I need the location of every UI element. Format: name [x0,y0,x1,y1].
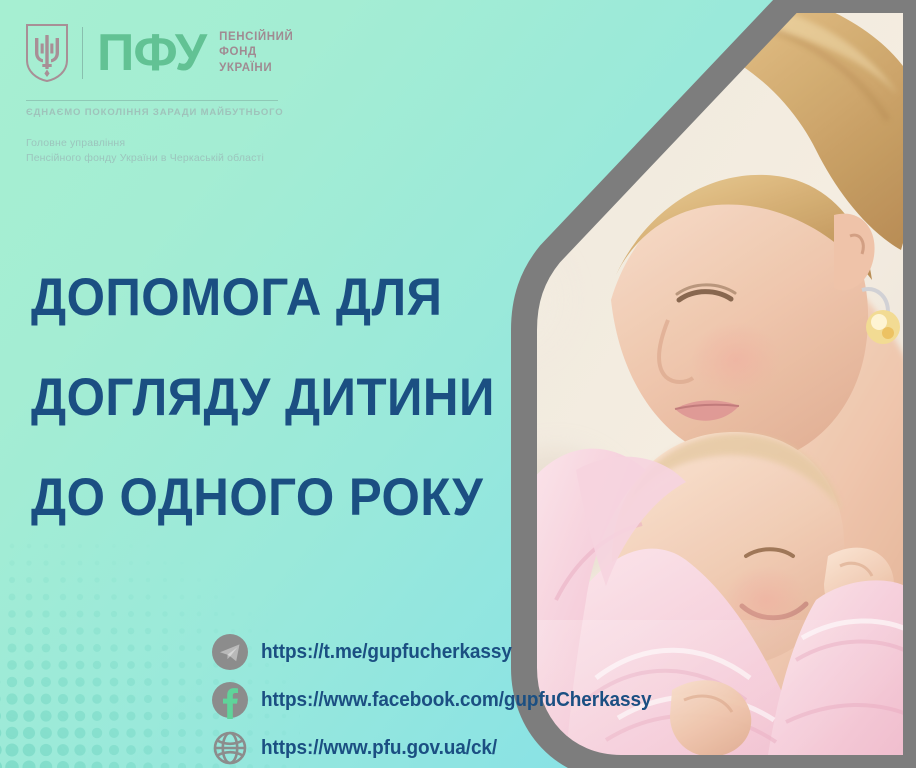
link-row-facebook[interactable]: https://www.facebook.com/gupfuCherkassy [211,676,672,724]
pfu-full-name-line-3: УКРАЇНИ [219,61,293,77]
link-row-website[interactable]: https://www.pfu.gov.ua/ck/ [211,724,672,768]
headline-line-2: ДОГЛЯДУ ДИТИНИ [31,348,468,448]
pfu-full-name-line-1: ПЕНСІЙНИЙ [219,30,293,46]
facebook-url[interactable]: https://www.facebook.com/gupfuCherkassy [261,689,651,712]
brand-tagline: ЄДНАЄМО ПОКОЛІННЯ ЗАРАДИ МАЙБУТНЬОГО [26,107,304,118]
poster-canvas: ПФУ ПЕНСІЙНИЙ ФОНД УКРАЇНИ ЄДНАЄМО ПОКОЛ… [0,0,916,768]
pfu-logo-block: ПФУ ПЕНСІЙНИЙ ФОНД УКРАЇНИ ЄДНАЄМО ПОКОЛ… [24,22,304,166]
logo-divider [82,27,83,79]
department-name: Головне управління Пенсійного фонду Укра… [26,136,304,166]
globe-icon[interactable] [211,729,249,767]
pfu-full-name-line-2: ФОНД [219,45,293,61]
tagline-divider [26,100,278,101]
link-row-telegram[interactable]: https://t.me/gupfucherkassy [211,628,672,676]
page-title: ДОПОМОГА ДЛЯ ДОГЛЯДУ ДИТИНИ ДО ОДНОГО РО… [31,248,501,548]
pfu-full-name: ПЕНСІЙНИЙ ФОНД УКРАЇНИ [219,30,293,77]
pfu-abbreviation: ПФУ [97,27,206,79]
facebook-icon[interactable] [211,681,249,719]
telegram-icon[interactable] [211,633,249,671]
telegram-url[interactable]: https://t.me/gupfucherkassy [261,641,512,664]
ukraine-trident-shield-icon [24,22,70,84]
headline-line-3: ДО ОДНОГО РОКУ [31,448,468,548]
website-url[interactable]: https://www.pfu.gov.ua/ck/ [261,737,497,760]
department-line-2: Пенсійного фонду України в Черкаській об… [26,151,304,166]
contact-links: https://t.me/gupfucherkassy https://www.… [211,628,672,768]
department-line-1: Головне управління [26,136,304,151]
headline-line-1: ДОПОМОГА ДЛЯ [31,248,468,348]
